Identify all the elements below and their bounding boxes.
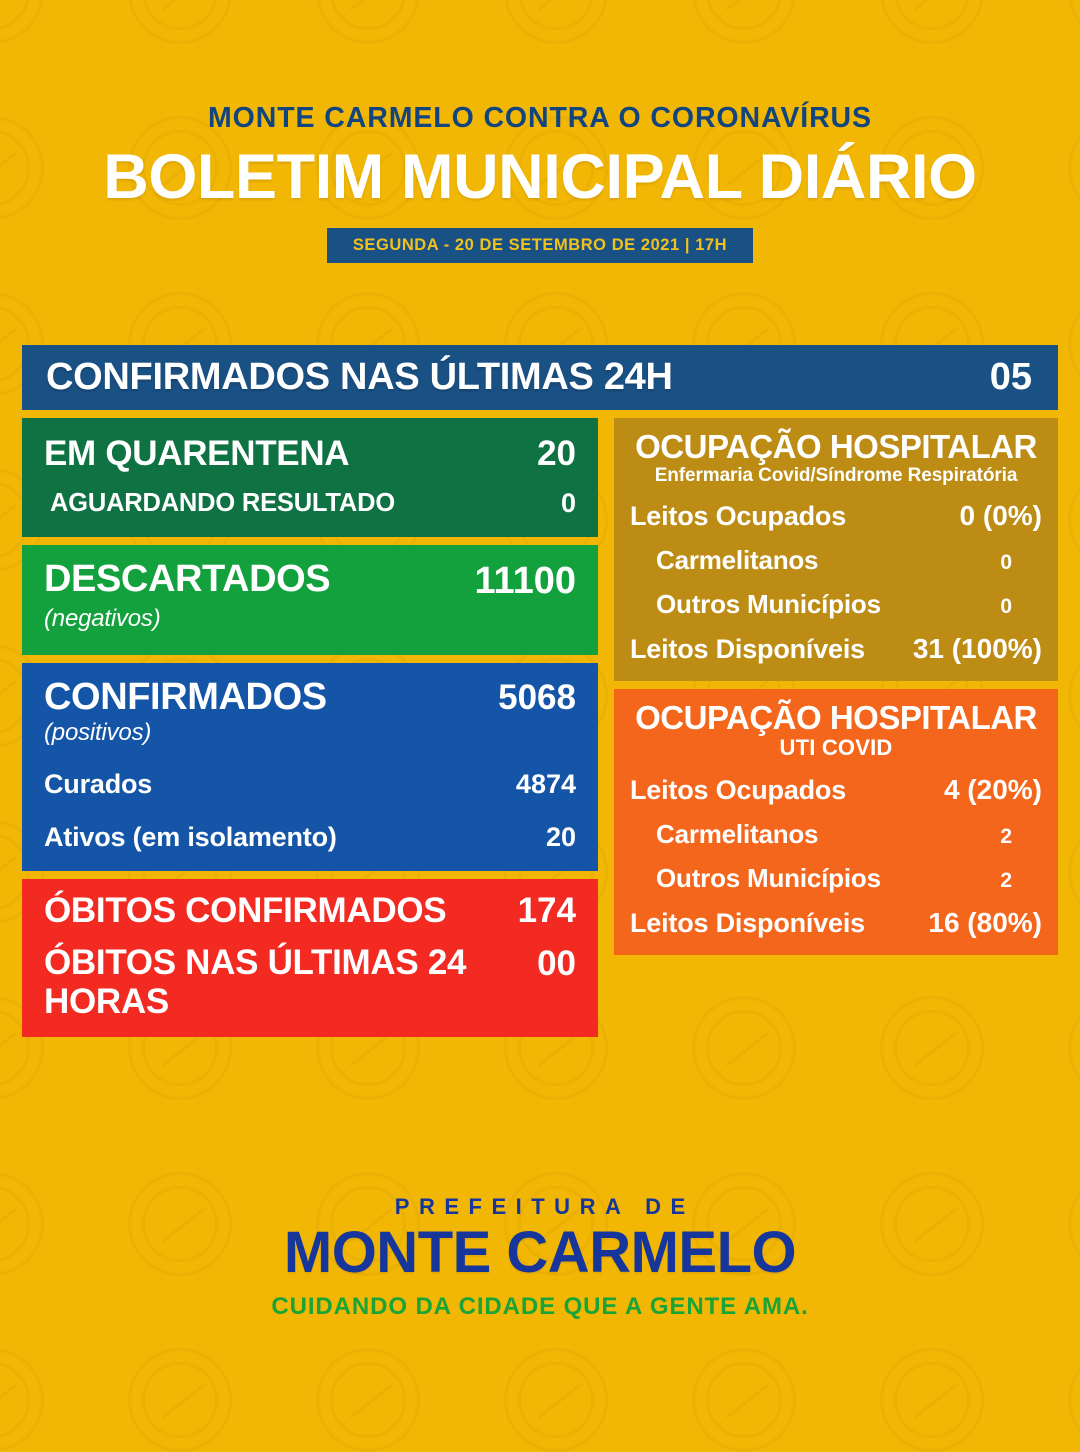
card-obitos: ÓBITOS CONFIRMADOS 174 ÓBITOS NAS ÚLTIMA… [22,879,598,1037]
ativos-value: 20 [546,822,576,853]
quarentena-value: 20 [537,434,576,474]
confirmados-24h-label: CONFIRMADOS NAS ÚLTIMAS 24H [46,356,990,399]
obitos-24h-label: ÓBITOS NAS ÚLTIMAS 24 HORAS [44,943,537,1021]
descartados-value: 11100 [475,560,576,603]
footer-prefeitura-label: PREFEITURA DE [0,1196,1080,1218]
uti-leitos-ocupados-label: Leitos Ocupados [630,775,944,806]
card-em-quarentena: EM QUARENTENA 20 AGUARDANDO RESULTADO 0 [22,418,598,537]
date-banner-wrap: SEGUNDA - 20 DE SETEMBRO DE 2021 | 17H [0,228,1080,264]
ocupacao-uti-subtitle: UTI COVID [630,735,1042,761]
aguardando-resultado-row: AGUARDANDO RESULTADO 0 [44,488,576,519]
enfermaria-carmelitanos-label: Carmelitanos [656,545,1000,576]
uti-carmelitanos-value: 2 [1000,825,1042,849]
aguardando-resultado-value: 0 [561,488,576,519]
uti-leitos-disponiveis-row: Leitos Disponíveis 16 (80%) [630,907,1042,939]
ocupacao-enfermaria-subtitle: Enfermaria Covid/Síndrome Respiratória [630,465,1042,487]
uti-outros-municipios-label: Outros Municípios [656,863,1000,894]
quarentena-main-row: EM QUARENTENA 20 [44,434,576,474]
quarentena-label: EM QUARENTENA [44,434,537,474]
enfermaria-leitos-ocupados-value: 0 (0%) [960,500,1042,532]
enfermaria-carmelitanos-row: Carmelitanos 0 [630,545,1042,576]
card-confirmados-24h: CONFIRMADOS NAS ÚLTIMAS 24H 05 [22,345,1058,410]
footer-tagline: CUIDANDO DA CIDADE QUE A GENTE AMA. [0,1295,1080,1319]
page-title: BOLETIM MUNICIPAL DIÁRIO [0,146,1080,209]
ocupacao-uti-title: OCUPAÇÃO HOSPITALAR [630,701,1042,735]
curados-row: Curados 4874 [44,769,576,800]
enfermaria-leitos-ocupados-label: Leitos Ocupados [630,501,960,532]
right-column: OCUPAÇÃO HOSPITALAR Enfermaria Covid/Sín… [614,418,1058,1037]
enfermaria-carmelitanos-value: 0 [1000,551,1042,575]
footer-city-name: MONTE CARMELO [0,1224,1080,1282]
enfermaria-outros-municipios-row: Outros Municípios 0 [630,589,1042,620]
enfermaria-leitos-disponiveis-value: 31 (100%) [913,633,1042,665]
uti-leitos-disponiveis-label: Leitos Disponíveis [630,908,928,939]
uti-leitos-ocupados-value: 4 (20%) [944,774,1042,806]
uti-carmelitanos-row: Carmelitanos 2 [630,819,1042,850]
uti-carmelitanos-label: Carmelitanos [656,819,1000,850]
stats-columns: EM QUARENTENA 20 AGUARDANDO RESULTADO 0 … [22,418,1058,1037]
curados-label: Curados [44,769,516,800]
page-header: MONTE CARMELO CONTRA O CORONAVÍRUS BOLET… [0,0,1080,263]
descartados-main-row: DESCARTADOS 11100 [44,560,576,603]
obitos-24h-value: 00 [537,943,576,984]
aguardando-resultado-label: AGUARDANDO RESULTADO [50,489,561,518]
enfermaria-outros-municipios-value: 0 [1000,595,1042,619]
left-column: EM QUARENTENA 20 AGUARDANDO RESULTADO 0 … [22,418,598,1037]
enfermaria-leitos-ocupados-row: Leitos Ocupados 0 (0%) [630,500,1042,532]
enfermaria-leitos-disponiveis-row: Leitos Disponíveis 31 (100%) [630,633,1042,665]
header-kicker: MONTE CARMELO CONTRA O CORONAVÍRUS [0,104,1080,133]
enfermaria-leitos-disponiveis-label: Leitos Disponíveis [630,634,913,665]
confirmados-subtitle: (positivos) [44,719,576,747]
ativos-label: Ativos (em isolamento) [44,822,546,853]
enfermaria-outros-municipios-label: Outros Municípios [656,589,1000,620]
confirmados-value: 5068 [498,678,576,718]
card-ocupacao-enfermaria: OCUPAÇÃO HOSPITALAR Enfermaria Covid/Sín… [614,418,1058,681]
date-banner: SEGUNDA - 20 DE SETEMBRO DE 2021 | 17H [327,228,753,264]
card-descartados: DESCARTADOS 11100 (negativos) [22,545,598,655]
descartados-subtitle: (negativos) [44,605,576,633]
uti-leitos-ocupados-row: Leitos Ocupados 4 (20%) [630,774,1042,806]
curados-value: 4874 [516,769,576,800]
ativos-row: Ativos (em isolamento) 20 [44,822,576,853]
card-ocupacao-uti: OCUPAÇÃO HOSPITALAR UTI COVID Leitos Ocu… [614,689,1058,956]
stats-board: CONFIRMADOS NAS ÚLTIMAS 24H 05 EM QUAREN… [22,345,1058,1037]
uti-outros-municipios-row: Outros Municípios 2 [630,863,1042,894]
confirmados-main-row: CONFIRMADOS 5068 [44,678,576,718]
confirmados-24h-value: 05 [990,356,1032,399]
obitos-confirmados-label: ÓBITOS CONFIRMADOS [44,891,518,931]
confirmados-label: CONFIRMADOS [44,678,498,717]
obitos-24h-row: ÓBITOS NAS ÚLTIMAS 24 HORAS 00 [44,943,576,1021]
footer-logo: PREFEITURA DE MONTE CARMELO CUIDANDO DA … [0,1196,1080,1319]
ocupacao-enfermaria-title: OCUPAÇÃO HOSPITALAR [630,430,1042,464]
descartados-label: DESCARTADOS [44,560,475,599]
uti-leitos-disponiveis-value: 16 (80%) [928,907,1042,939]
bulletin-page: MONTE CARMELO CONTRA O CORONAVÍRUS BOLET… [0,0,1080,1350]
obitos-confirmados-row: ÓBITOS CONFIRMADOS 174 [44,891,576,931]
obitos-confirmados-value: 174 [518,891,576,931]
uti-outros-municipios-value: 2 [1000,869,1042,893]
card-confirmados: CONFIRMADOS 5068 (positivos) Curados 487… [22,663,598,871]
